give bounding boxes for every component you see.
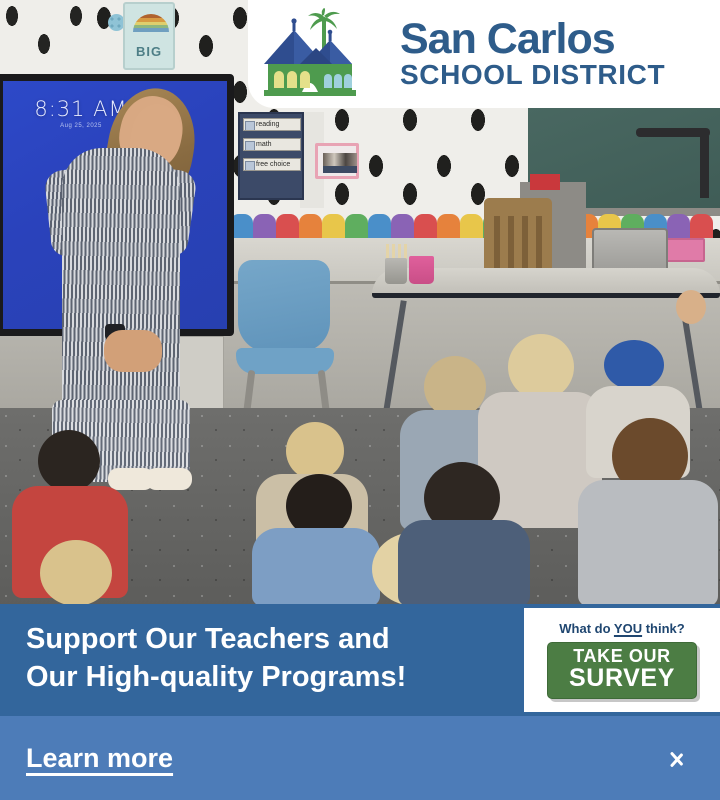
pink-framed-sign xyxy=(315,143,359,179)
monitor-arm xyxy=(636,128,710,137)
school-building-palm-tree-icon xyxy=(262,8,394,100)
schedule-card: free choice xyxy=(243,158,301,171)
survey-question-suffix: think? xyxy=(642,621,685,636)
survey-question-emphasis: YOU xyxy=(614,621,642,636)
monitor-arm-post xyxy=(700,136,709,198)
learn-more-bar[interactable]: Learn more xyxy=(0,716,720,800)
district-name-line2: SCHOOL DISTRICT xyxy=(400,60,665,89)
district-logo-card: San Carlos SCHOOL DISTRICT xyxy=(248,0,720,108)
schedule-pocket-chart: reading math free choice xyxy=(238,112,304,200)
blue-chair-back xyxy=(238,260,330,352)
rainbow-poster-text: BIG xyxy=(125,44,173,59)
survey-callout-card: What do YOU think? TAKE OUR SURVEY xyxy=(524,608,720,712)
survey-question: What do YOU think? xyxy=(559,621,684,636)
schedule-card: math xyxy=(243,138,301,151)
take-survey-button-line2: SURVEY xyxy=(548,666,696,692)
supply-box xyxy=(530,174,560,190)
schedule-card: reading xyxy=(243,118,301,131)
district-name: San Carlos SCHOOL DISTRICT xyxy=(400,19,665,90)
take-survey-button[interactable]: TAKE OUR SURVEY xyxy=(547,642,697,698)
banner-headline-line2: Our High-quality Programs! xyxy=(26,658,506,696)
teacher-hands xyxy=(104,330,162,372)
district-name-line1: San Carlos xyxy=(400,19,665,60)
teacher-shoe xyxy=(146,468,192,490)
metal-cup xyxy=(385,258,407,284)
rainbow-icon xyxy=(133,14,169,32)
sign-label xyxy=(323,166,357,173)
rainbow-poster: BIG xyxy=(123,2,175,70)
banner-headline: Support Our Teachers and Our High-qualit… xyxy=(26,620,506,697)
learn-more-link[interactable]: Learn more xyxy=(26,743,173,774)
slide-container: BIG reading math free choice xyxy=(0,0,720,800)
banner-headline-line1: Support Our Teachers and xyxy=(26,620,506,658)
survey-question-prefix: What do xyxy=(559,621,614,636)
pink-bucket xyxy=(409,256,434,284)
chevron-right-icon[interactable] xyxy=(669,743,686,773)
